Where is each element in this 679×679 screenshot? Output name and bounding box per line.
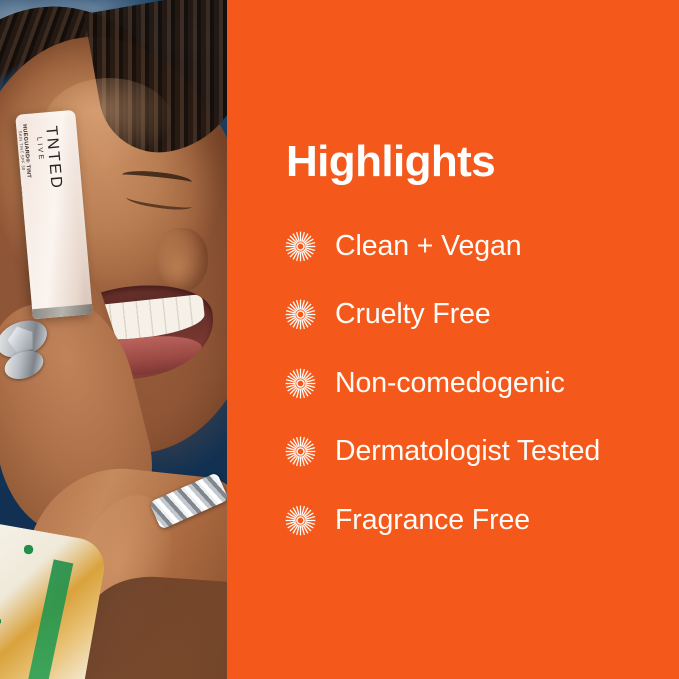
highlight-item: Dermatologist Tested: [285, 434, 600, 470]
highlight-item-label: Dermatologist Tested: [335, 437, 600, 466]
sunburst-icon: [285, 299, 316, 330]
tube-brand-text: TNTED: [41, 125, 65, 191]
nose: [156, 228, 208, 292]
sunburst-icon: [285, 368, 316, 399]
highlight-item-label: Cruelty Free: [335, 300, 491, 329]
highlight-item-label: Fragrance Free: [335, 506, 530, 535]
highlights-panel: Highlights Clean + VeganCruelty FreeNon-…: [227, 0, 679, 679]
highlight-item: Clean + Vegan: [285, 228, 600, 264]
highlight-item: Cruelty Free: [285, 297, 600, 333]
sunburst-icon: [285, 231, 316, 262]
sunburst-icon: [285, 505, 316, 536]
highlight-item-label: Clean + Vegan: [335, 232, 521, 261]
highlights-list: Clean + VeganCruelty FreeNon-comedogenic…: [285, 228, 600, 571]
highlight-item-label: Non-comedogenic: [335, 369, 565, 398]
sunburst-icon: [285, 436, 316, 467]
product-highlights-banner: TNTED LIVE HUEGUARD® TINT SKIN TINT SPF …: [0, 0, 679, 679]
page-title: Highlights: [286, 140, 495, 184]
product-lifestyle-photo: TNTED LIVE HUEGUARD® TINT SKIN TINT SPF …: [0, 0, 227, 679]
highlight-item: Fragrance Free: [285, 502, 600, 538]
highlight-item: Non-comedogenic: [285, 365, 600, 401]
